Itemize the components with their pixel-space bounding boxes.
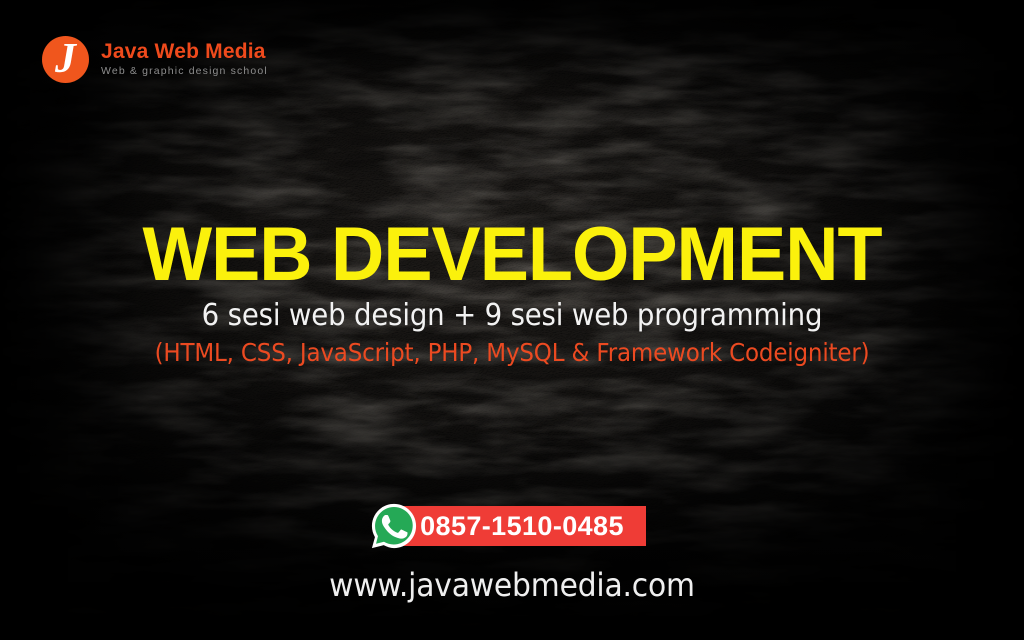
contact-section: 0857-1510-0485 www.javawebmedia.com <box>0 505 1024 604</box>
brand-tagline: Web & graphic design school <box>101 64 268 79</box>
whatsapp-phone-badge[interactable]: 0857-1510-0485 <box>370 505 646 547</box>
java-web-media-logo-icon: J <box>42 36 89 83</box>
page-title: WEB DEVELOPMENT <box>15 218 1008 292</box>
brand-name: Java Web Media <box>101 41 268 63</box>
phone-number: 0857-1510-0485 <box>420 513 624 540</box>
promo-poster: J Java Web Media Web & graphic design sc… <box>0 0 1024 640</box>
logo-letter-j: J <box>42 38 89 80</box>
phone-number-bar[interactable]: 0857-1510-0485 <box>386 506 646 546</box>
whatsapp-icon[interactable] <box>370 502 418 550</box>
brand-logo-text: Java Web Media Web & graphic design scho… <box>101 41 268 79</box>
headline-section: WEB DEVELOPMENT 6 sesi web design + 9 se… <box>0 218 1024 368</box>
brand-logo[interactable]: J Java Web Media Web & graphic design sc… <box>42 36 268 83</box>
website-url[interactable]: www.javawebmedia.com <box>36 566 988 604</box>
course-technologies-line: (HTML, CSS, JavaScript, PHP, MySQL & Fra… <box>41 338 983 368</box>
course-sessions-subtitle: 6 sesi web design + 9 sesi web programmi… <box>41 298 983 333</box>
